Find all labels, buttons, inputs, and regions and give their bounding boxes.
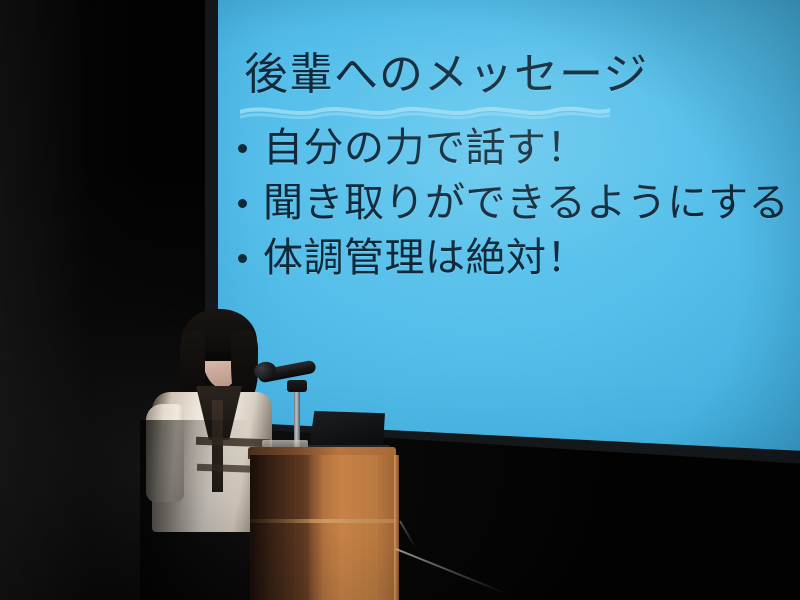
presentation-photo: 後輩へのメッセージ 自分の力で話す！ 聞き取りができるようにする 体調管理は絶対…: [0, 0, 800, 600]
slide-bullet-list: 自分の力で話す！ 聞き取りができるようにする 体調管理は絶対！: [238, 122, 800, 287]
bullet-dot-icon: [238, 254, 247, 263]
wall-sheen: [0, 0, 150, 600]
slide-bullet-item: 自分の力で話す！: [238, 122, 800, 174]
podium-shadow: [250, 455, 310, 600]
laptop-screen: [309, 411, 385, 449]
slide-title: 後輩へのメッセージ: [244, 52, 648, 98]
microphone-clip: [287, 380, 307, 392]
title-wavy-underline: [240, 103, 610, 119]
bullet-dot-icon: [238, 199, 247, 208]
slide-bullet-text: 体調管理は絶対！: [263, 232, 587, 284]
slide-bullet-text: 聞き取りができるようにする: [263, 177, 789, 229]
slide-bullet-text: 自分の力で話す！: [263, 122, 587, 174]
podium-right-edge: [394, 455, 399, 600]
slide-bullet-item: 体調管理は絶対！: [238, 232, 800, 284]
bullet-dot-icon: [238, 144, 247, 153]
slide-bullet-item: 聞き取りができるようにする: [238, 177, 800, 229]
